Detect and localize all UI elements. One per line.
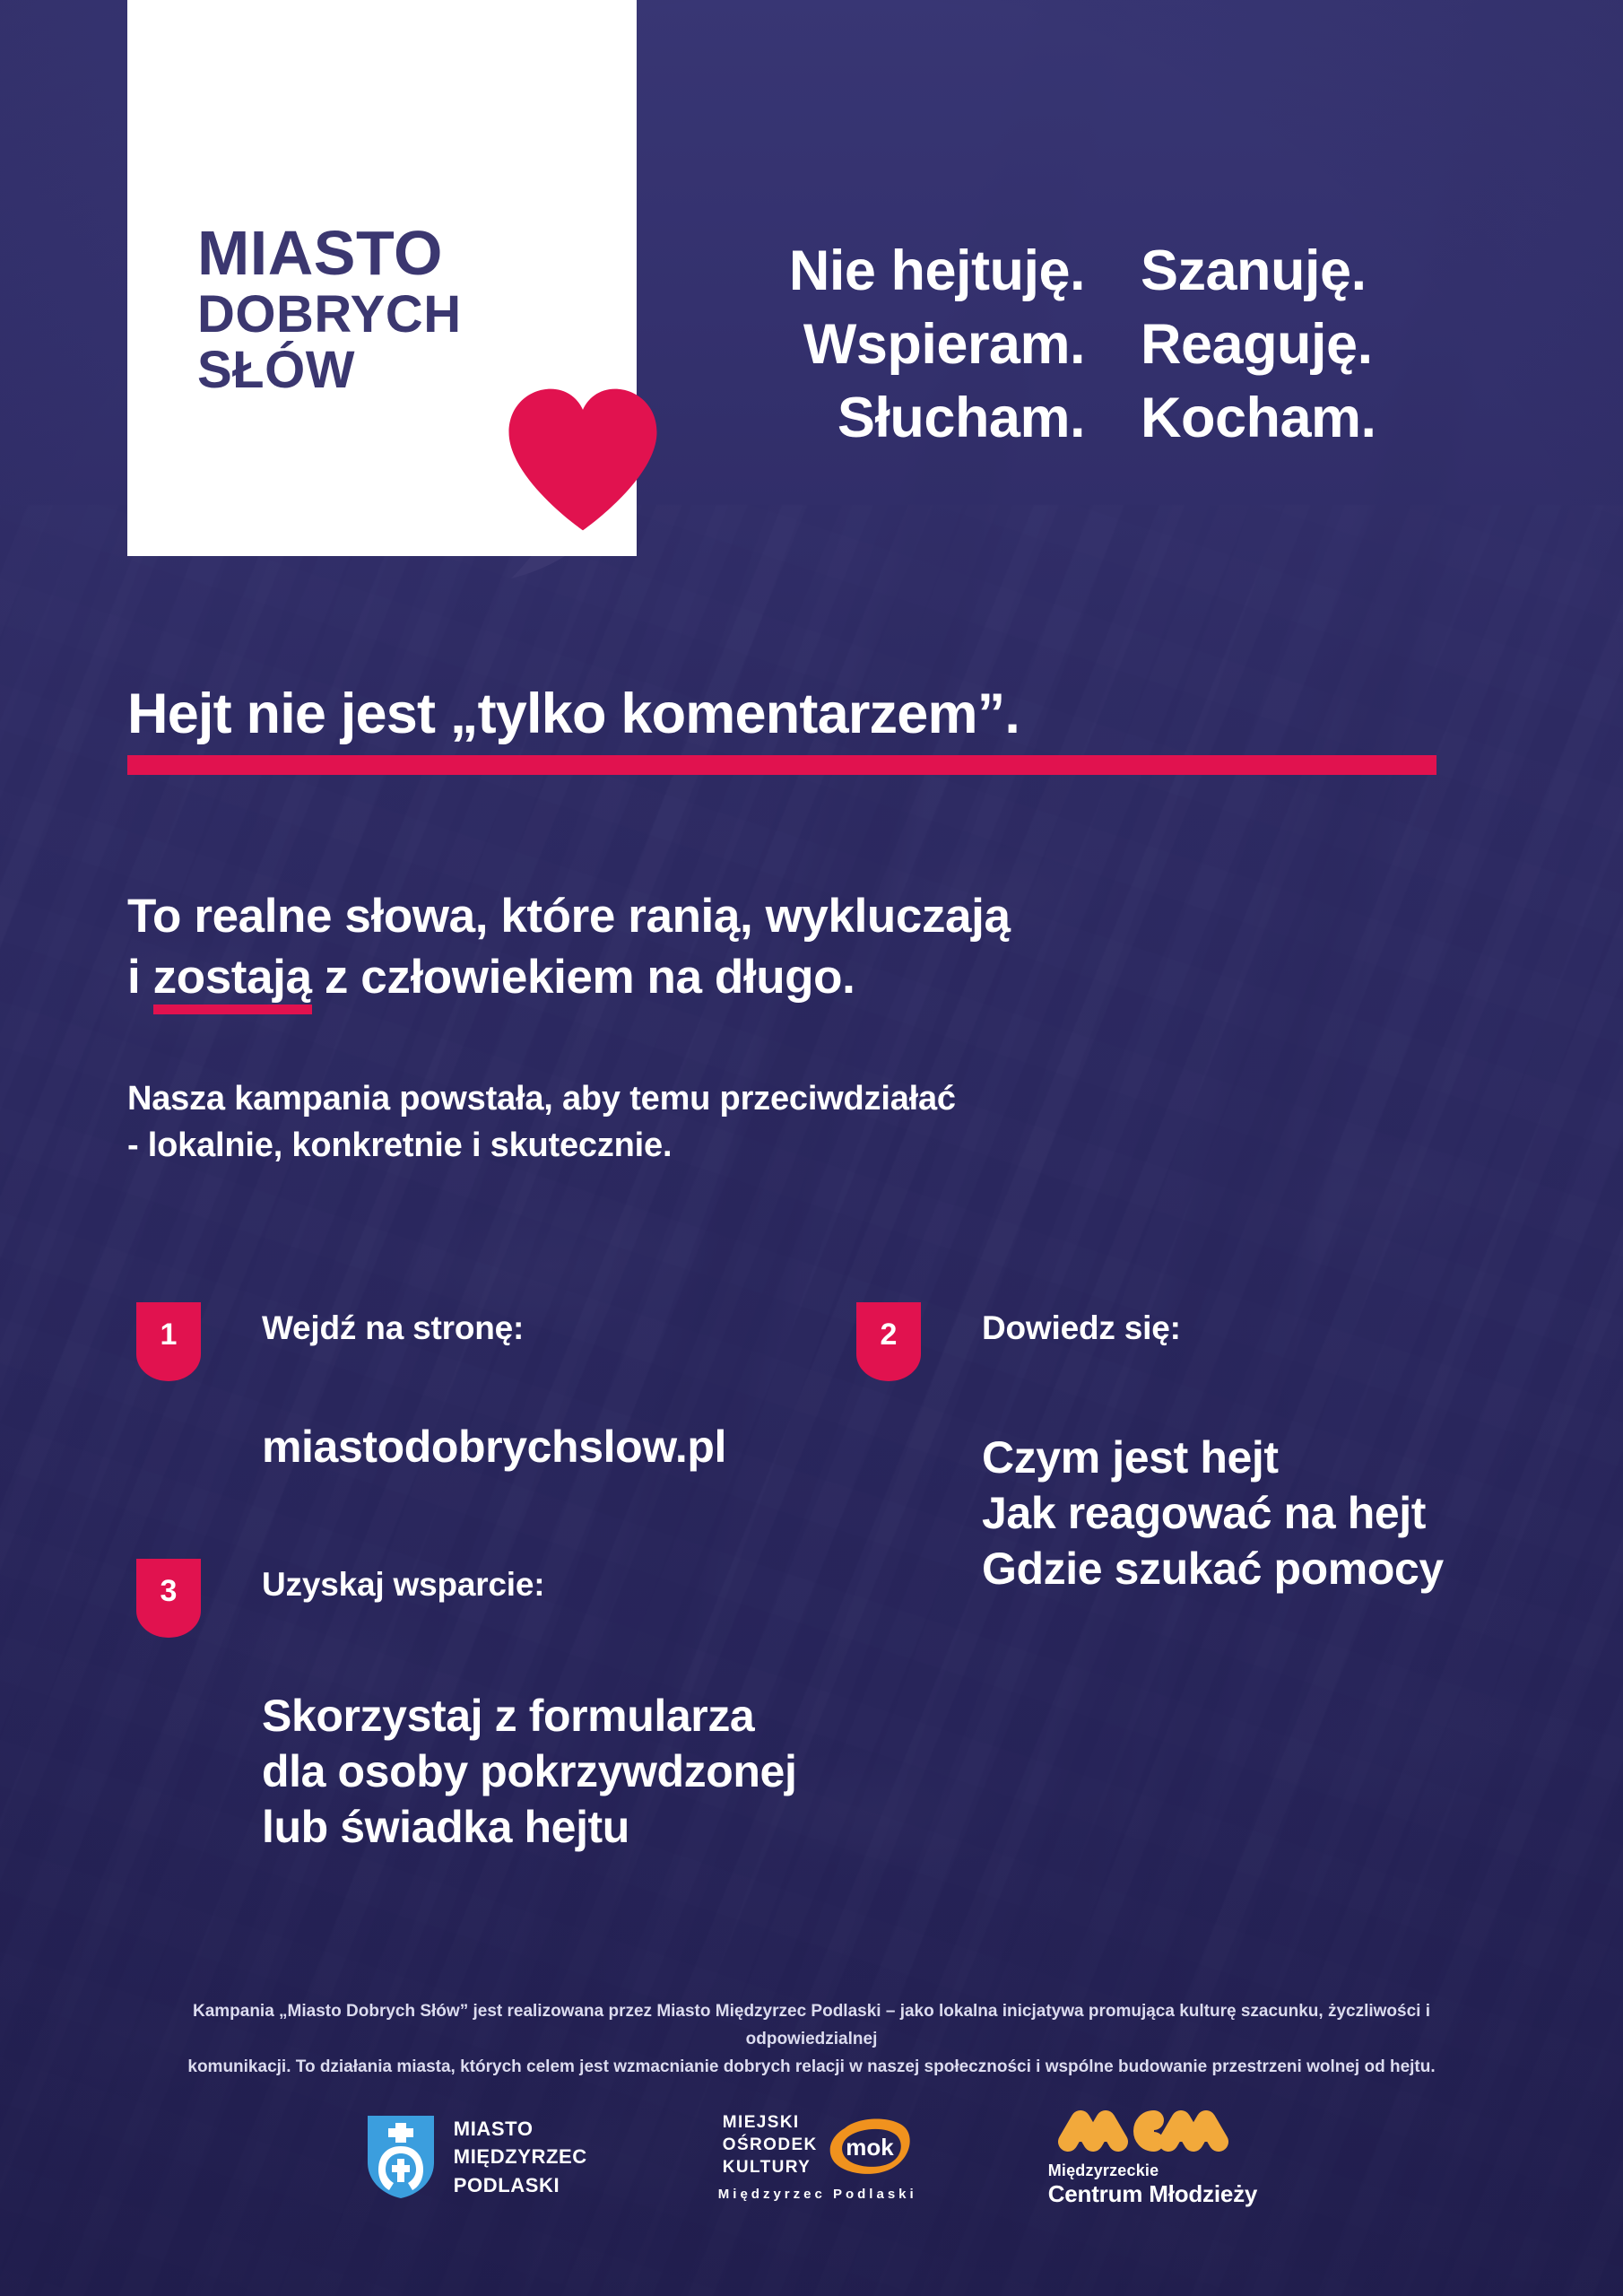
- logo-line-1: MIASTO: [197, 224, 610, 283]
- partner-miejski-osrodek-kultury: MIEJSKI OŚRODEK KULTURY mok Międzyrzec P…: [718, 2112, 917, 2201]
- step-2-item-1: Czym jest hejt: [982, 1430, 1444, 1485]
- step-2-badge: 2: [856, 1302, 921, 1381]
- website-link[interactable]: miastodobrychslow.pl: [262, 1419, 726, 1474]
- partner-miasto-miedzyrzec-podlaski: MIASTO MIĘDZYRZEC PODLASKI: [366, 2114, 587, 2200]
- partner-2-label: MIEJSKI OŚRODEK KULTURY: [723, 2112, 818, 2179]
- partner-1-label: MIASTO MIĘDZYRZEC PODLASKI: [454, 2115, 587, 2199]
- city-crest-icon: [366, 2114, 436, 2200]
- mok-swoosh-icon: mok: [827, 2118, 913, 2175]
- logo-line-2: DOBRYCH: [197, 291, 610, 340]
- step-3-item-3: lub świadka hejtu: [262, 1799, 796, 1855]
- step-2-item-2: Jak reagować na hejt: [982, 1485, 1444, 1541]
- step-2-number: 2: [881, 1318, 898, 1352]
- partner-1-line-1: MIASTO: [454, 2115, 587, 2143]
- footer-note-line-2: komunikacji. To działania miasta, któryc…: [152, 2054, 1471, 2082]
- partner-logos-row: MIASTO MIĘDZYRZEC PODLASKI MIEJSKI OŚROD…: [0, 2090, 1623, 2224]
- footer-disclaimer: Kampania „Miasto Dobrych Słów” jest real…: [152, 1998, 1471, 2081]
- step-1-badge: 1: [136, 1302, 201, 1381]
- partner-3-small-label: Międzyrzeckie: [1048, 2161, 1258, 2180]
- step-3-item-2: dla osoby pokrzywdzonej: [262, 1744, 796, 1799]
- partner-2-line-3: KULTURY: [723, 2157, 818, 2179]
- step-3-badge: 3: [136, 1559, 201, 1638]
- partner-2-city: Międzyrzec Podlaski: [718, 2187, 917, 2202]
- poster-root: MIASTO DOBRYCH SŁÓW Nie hejtuję. Wspiera…: [0, 0, 1623, 2296]
- heart-icon: [502, 386, 664, 534]
- step-2-title: Dowiedz się:: [982, 1309, 1181, 1347]
- step-3-number: 3: [161, 1574, 178, 1609]
- partner-2-line-2: OŚRODEK: [723, 2135, 818, 2157]
- footer-note-line-1: Kampania „Miasto Dobrych Słów” jest real…: [152, 1998, 1471, 2054]
- partner-2-line-1: MIEJSKI: [723, 2112, 818, 2135]
- partner-3-big-label: Centrum Młodzieży: [1048, 2180, 1258, 2208]
- step-1-title: Wejdź na stronę:: [262, 1309, 524, 1347]
- mok-mark-text: mok: [846, 2134, 894, 2161]
- step-1-body: miastodobrychslow.pl: [262, 1419, 726, 1474]
- step-3-title: Uzyskaj wsparcie:: [262, 1566, 544, 1604]
- partner-miedzyrzeckie-centrum-mlodziezy: Międzyrzeckie Centrum Młodzieży: [1048, 2106, 1258, 2208]
- mcm-mark-icon: [1054, 2106, 1233, 2152]
- step-3-body: Skorzystaj z formularza dla osoby pokrzy…: [262, 1688, 796, 1855]
- partner-1-line-2: MIĘDZYRZEC: [454, 2143, 587, 2170]
- step-3-item-1: Skorzystaj z formularza: [262, 1688, 796, 1744]
- step-2-body: Czym jest hejt Jak reagować na hejt Gdzi…: [982, 1430, 1444, 1596]
- step-1-number: 1: [161, 1318, 178, 1352]
- step-2-item-3: Gdzie szukać pomocy: [982, 1541, 1444, 1596]
- partner-1-line-3: PODLASKI: [454, 2171, 587, 2199]
